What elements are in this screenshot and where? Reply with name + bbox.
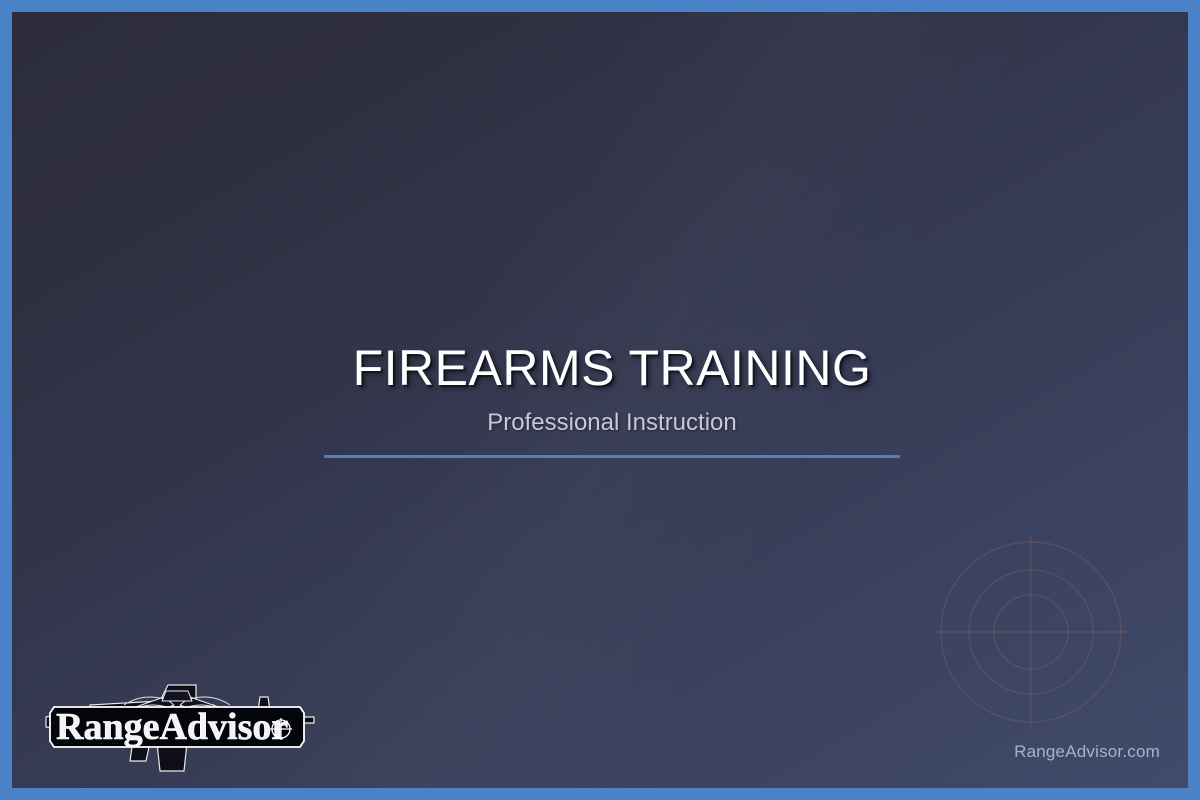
page-title: FIREARMS TRAINING xyxy=(12,342,1200,395)
brand-wordmark: RangeAdvisor xyxy=(56,706,288,748)
accent-rule xyxy=(324,455,900,458)
title-block: FIREARMS TRAINING Professional Instructi… xyxy=(12,342,1200,458)
rifle-logo-icon: RangeAdvisor xyxy=(38,675,328,775)
footer-website: RangeAdvisor.com xyxy=(1014,742,1160,762)
title-slide: FIREARMS TRAINING Professional Instructi… xyxy=(0,0,1200,800)
page-subtitle: Professional Instruction xyxy=(12,409,1200,437)
crosshair-target-icon xyxy=(922,523,1140,741)
